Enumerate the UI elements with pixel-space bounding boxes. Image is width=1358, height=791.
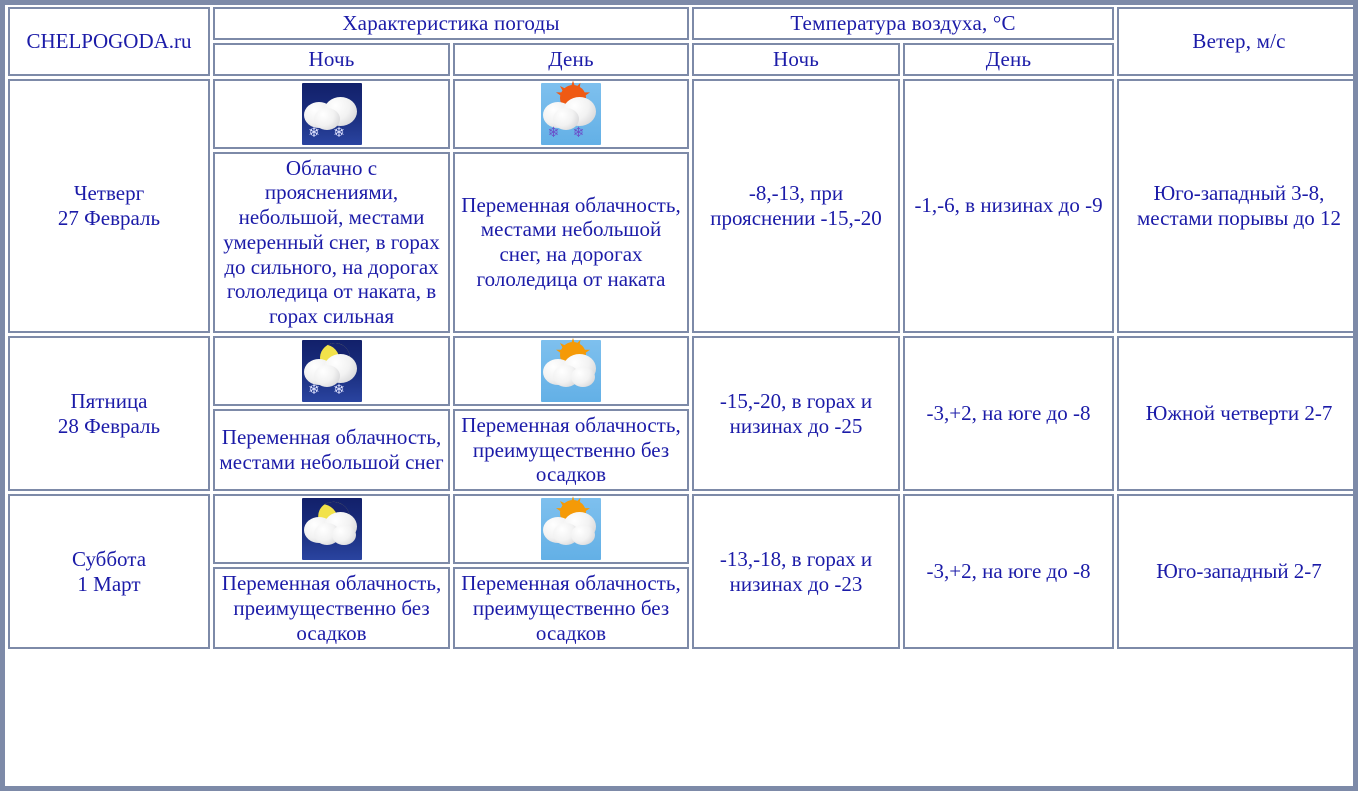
sun-behind-cloud-icon xyxy=(541,498,601,560)
night-desc-0: Облачно с прояснениями, небольшой, места… xyxy=(213,152,450,333)
night-icon-cell-1: ❄ ❄ xyxy=(213,336,450,406)
day-name-0: Четверг xyxy=(14,181,204,206)
header-temperature-day: День xyxy=(903,43,1114,76)
moon-cloud-snow-icon: ❄ ❄ xyxy=(302,340,362,402)
day-temp-2: -3,+2, на юге до -8 xyxy=(903,494,1114,649)
site-brand: CHELPOGODA.ru xyxy=(8,7,210,76)
forecast-row: Четверг 27 Февраль ❄ ❄ xyxy=(8,79,1358,149)
header-characteristic-night: Ночь xyxy=(213,43,450,76)
wind-1: Южной четверти 2-7 xyxy=(1117,336,1358,491)
header-wind: Ветер, м/с xyxy=(1117,7,1358,76)
forecast-row: Пятница 28 Февраль ❄ ❄ xyxy=(8,336,1358,406)
day-desc-1: Переменная облачность, преимущественно б… xyxy=(453,409,689,491)
night-desc-2: Переменная облачность, преимущественно б… xyxy=(213,567,450,649)
day-icon-cell-2 xyxy=(453,494,689,564)
day-label-2: Суббота 1 Март xyxy=(8,494,210,649)
moon-behind-cloud-icon xyxy=(302,498,362,560)
day-date-2: 1 Март xyxy=(14,572,204,597)
day-icon-cell-1 xyxy=(453,336,689,406)
day-date-0: 27 Февраль xyxy=(14,206,204,231)
partly-sunny-snow-icon: ❄ ❄ xyxy=(541,83,601,145)
day-label-0: Четверг 27 Февраль xyxy=(8,79,210,333)
day-temp-1: -3,+2, на юге до -8 xyxy=(903,336,1114,491)
night-icon-cell-2 xyxy=(213,494,450,564)
sun-behind-cloud-icon xyxy=(541,340,601,402)
cloudy-snow-night-icon: ❄ ❄ xyxy=(302,83,362,145)
day-temp-0: -1,-6, в низинах до -9 xyxy=(903,79,1114,333)
forecast-row: Суббота 1 Март xyxy=(8,494,1358,564)
day-label-1: Пятница 28 Февраль xyxy=(8,336,210,491)
day-date-1: 28 Февраль xyxy=(14,414,204,439)
wind-0: Юго-западный 3-8, местами порывы до 12 xyxy=(1117,79,1358,333)
night-icon-cell-0: ❄ ❄ xyxy=(213,79,450,149)
header-temperature-night: Ночь xyxy=(692,43,900,76)
night-temp-1: -15,-20, в горах и низинах до -25 xyxy=(692,336,900,491)
weather-forecast-table: CHELPOGODA.ru Характеристика погоды Темп… xyxy=(5,4,1358,652)
day-name-2: Суббота xyxy=(14,547,204,572)
wind-2: Юго-западный 2-7 xyxy=(1117,494,1358,649)
header-air-temperature: Температура воздуха, °C xyxy=(692,7,1114,40)
header-weather-characteristic: Характеристика погоды xyxy=(213,7,689,40)
day-icon-cell-0: ❄ ❄ xyxy=(453,79,689,149)
day-name-1: Пятница xyxy=(14,389,204,414)
header-row-top: CHELPOGODA.ru Характеристика погоды Темп… xyxy=(8,7,1358,40)
night-desc-1: Переменная облачность, местами небольшой… xyxy=(213,409,450,491)
day-desc-0: Переменная облачность, местами небольшой… xyxy=(453,152,689,333)
header-characteristic-day: День xyxy=(453,43,689,76)
night-temp-0: -8,-13, при прояснении -15,-20 xyxy=(692,79,900,333)
weather-forecast-page: CHELPOGODA.ru Характеристика погоды Темп… xyxy=(0,0,1358,791)
night-temp-2: -13,-18, в горах и низинах до -23 xyxy=(692,494,900,649)
day-desc-2: Переменная облачность, преимущественно б… xyxy=(453,567,689,649)
